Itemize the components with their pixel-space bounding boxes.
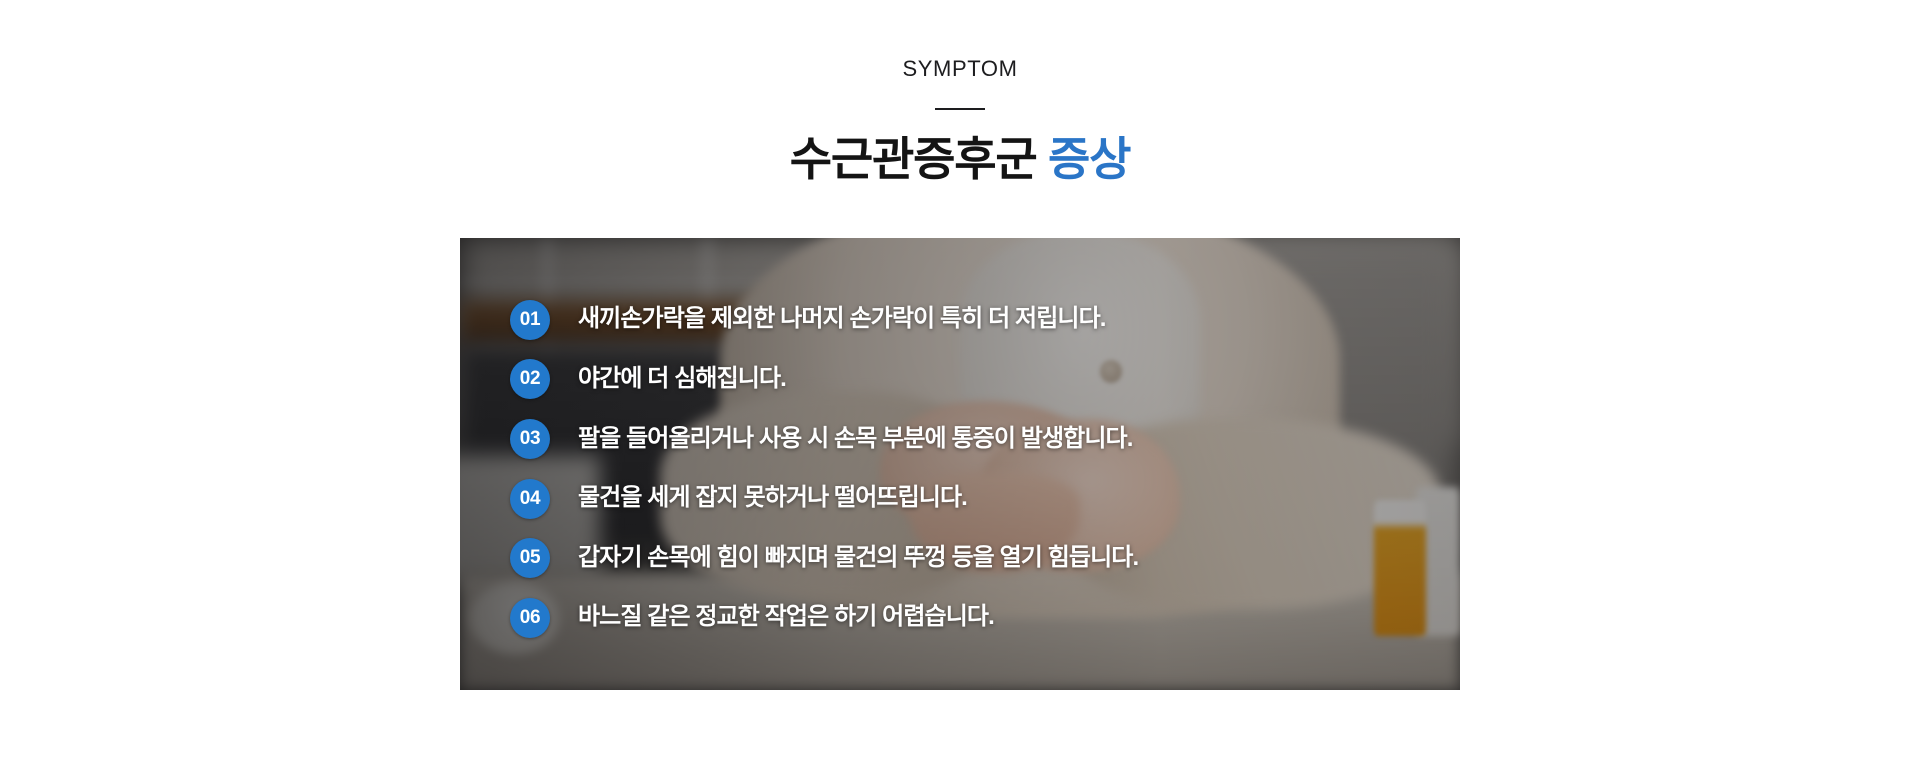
section-eyebrow: SYMPTOM [0,58,1920,80]
list-item-number-badge: 03 [510,419,550,459]
symptom-list: 01 새끼손가락을 제외한 나머지 손가락이 특히 더 저립니다. 02 야간에… [510,290,1430,648]
symptom-section-page: SYMPTOM 수근관증후군 증상 [0,0,1920,772]
list-item-label: 물건을 세게 잡지 못하거나 떨어뜨립니다. [578,484,967,513]
list-item-label: 바느질 같은 정교한 작업은 하기 어렵습니다. [578,603,994,632]
list-item-label: 새끼손가락을 제외한 나머지 손가락이 특히 더 저립니다. [578,305,1106,334]
section-header: SYMPTOM 수근관증후군 증상 [0,0,1920,186]
list-item: 03 팔을 들어올리거나 사용 시 손목 부분에 통증이 발생합니다. [510,409,1430,469]
page-title-accent: 증상 [1048,133,1130,185]
header-divider-rule [935,108,985,110]
page-title-main: 수근관증후군 [790,133,1048,185]
list-item: 04 물건을 세게 잡지 못하거나 떨어뜨립니다. [510,469,1430,529]
list-item: 01 새끼손가락을 제외한 나머지 손가락이 특히 더 저립니다. [510,290,1430,350]
list-item: 05 갑자기 손목에 힘이 빠지며 물건의 뚜껑 등을 열기 힘듭니다. [510,528,1430,588]
list-item: 02 야간에 더 심해집니다. [510,350,1430,410]
list-item-label: 팔을 들어올리거나 사용 시 손목 부분에 통증이 발생합니다. [578,425,1132,454]
list-item-label: 갑자기 손목에 힘이 빠지며 물건의 뚜껑 등을 열기 힘듭니다. [578,544,1138,573]
list-item-label: 야간에 더 심해집니다. [578,365,786,394]
list-item: 06 바느질 같은 정교한 작업은 하기 어렵습니다. [510,588,1430,648]
page-title: 수근관증후군 증상 [0,132,1920,186]
list-item-number-badge: 01 [510,300,550,340]
symptom-banner: 01 새끼손가락을 제외한 나머지 손가락이 특히 더 저립니다. 02 야간에… [460,238,1460,690]
list-item-number-badge: 05 [510,538,550,578]
list-item-number-badge: 02 [510,359,550,399]
list-item-number-badge: 06 [510,598,550,638]
list-item-number-badge: 04 [510,479,550,519]
